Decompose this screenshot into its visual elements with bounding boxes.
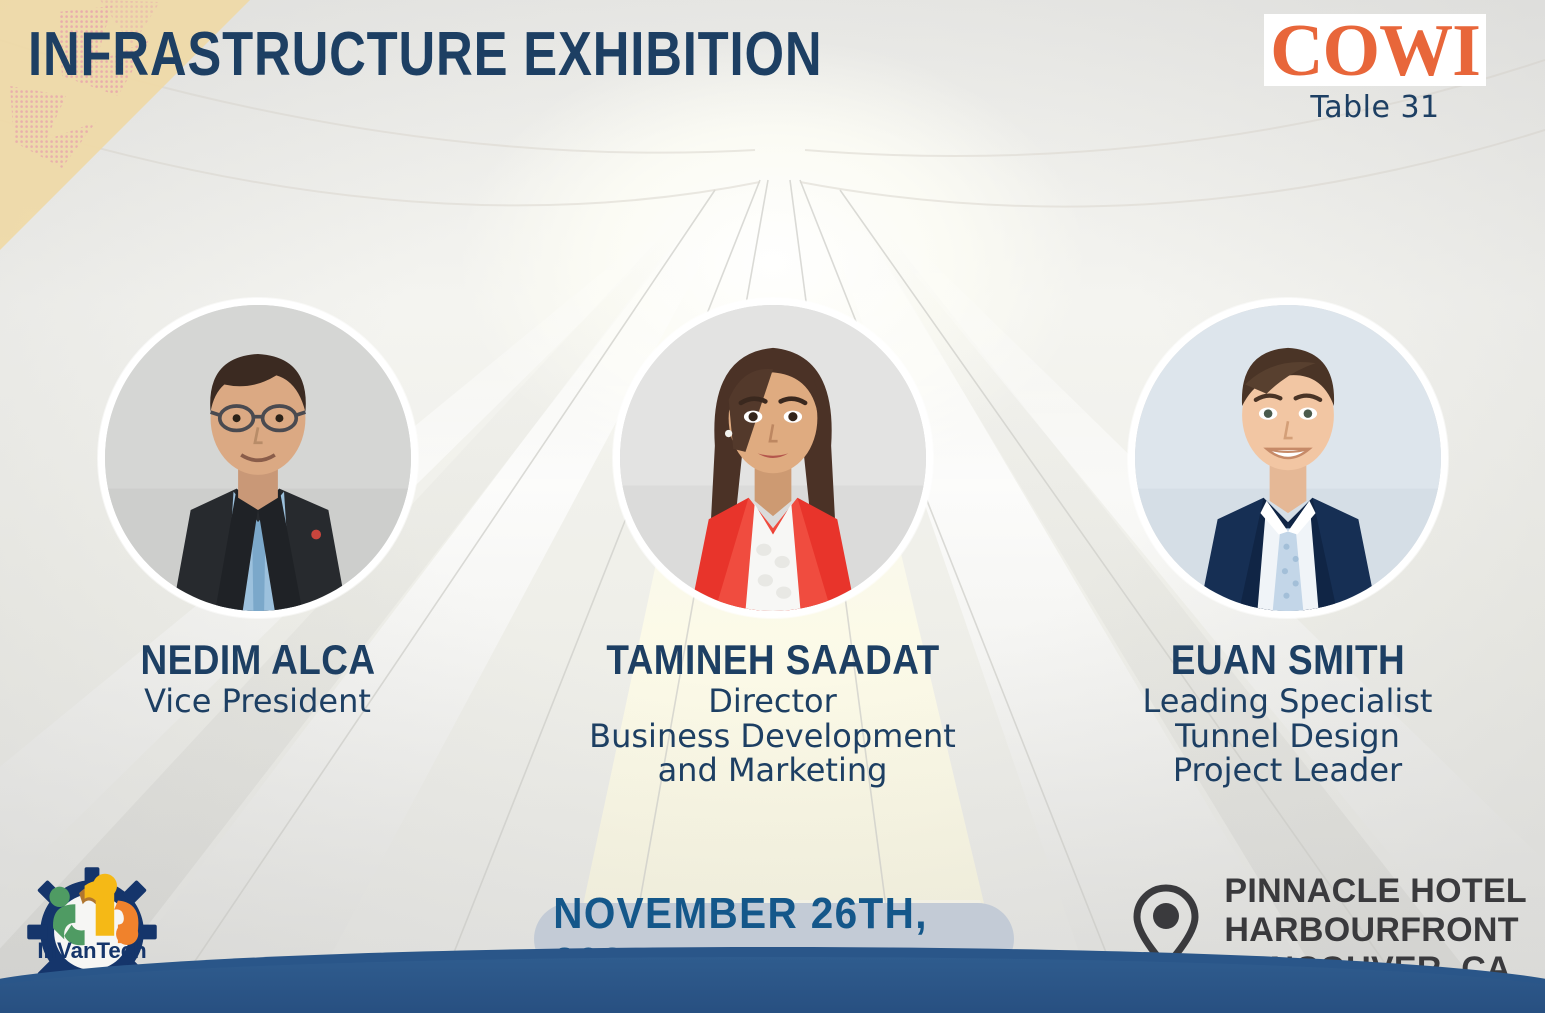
cowi-logo-text: COWI <box>1270 10 1480 92</box>
speaker-name: EUAN SMITH <box>1081 638 1495 682</box>
speaker-card: TAMINEH SAADAT Director Business Develop… <box>538 298 1008 788</box>
sponsor-logo-block: COWI Table 31 <box>1235 14 1515 125</box>
speaker-name: TAMINEH SAADAT <box>566 638 980 682</box>
speakers-row: NEDIM ALCA Vice President <box>0 298 1545 788</box>
speaker-role: Leading Specialist Tunnel Design Project… <box>1053 684 1523 788</box>
tamineh-saadat-portrait <box>613 298 933 618</box>
cowi-logo: COWI <box>1264 14 1486 86</box>
event-poster: INFRASTRUCTURE EXHIBITION COWI Table 31 <box>0 0 1545 1013</box>
portrait-illustration <box>620 305 926 611</box>
page-title: INFRASTRUCTURE EXHIBITION <box>28 22 822 87</box>
portrait-illustration <box>105 305 411 611</box>
euan-smith-portrait <box>1128 298 1448 618</box>
speaker-name: NEDIM ALCA <box>51 638 465 682</box>
speaker-card: EUAN SMITH Leading Specialist Tunnel Des… <box>1053 298 1523 788</box>
portrait-illustration <box>1135 305 1441 611</box>
speaker-role: Vice President <box>23 684 493 719</box>
invantech-wordmark: InVanTech <box>37 938 146 963</box>
speaker-card: NEDIM ALCA Vice President <box>23 298 493 719</box>
nedim-alca-portrait <box>98 298 418 618</box>
sponsor-table-label: Table 31 <box>1235 90 1515 125</box>
speaker-role: Director Business Development and Market… <box>538 684 1008 788</box>
